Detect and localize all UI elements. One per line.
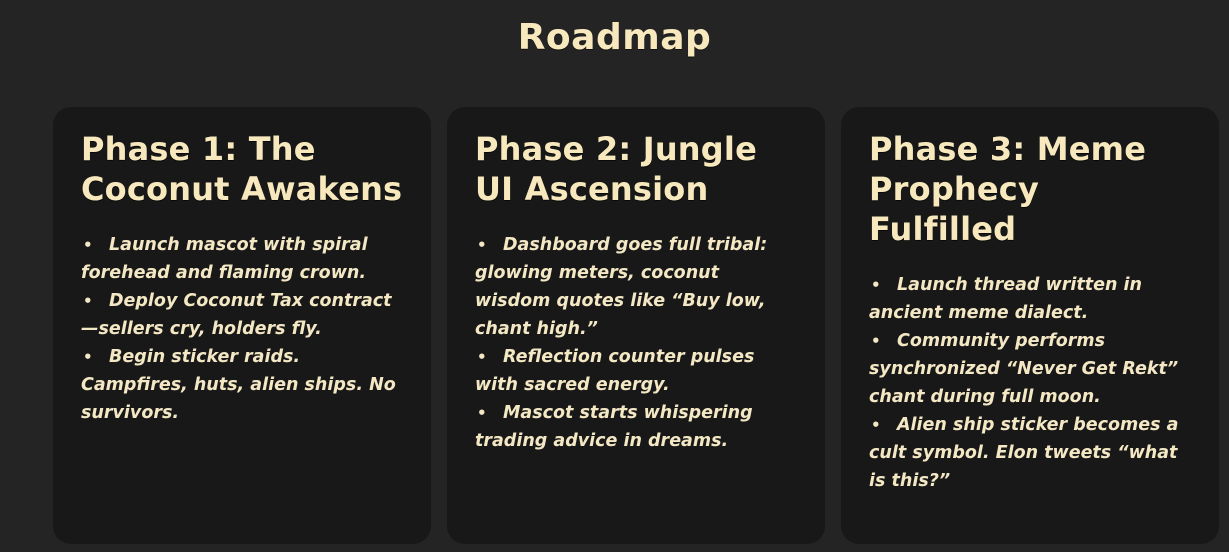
roadmap-cards-row: Phase 1: The Coconut Awakens •Launch mas…	[53, 107, 1219, 544]
list-item: •Begin sticker raids. Campfires, huts, a…	[81, 343, 403, 427]
card-title: Phase 3: Meme Prophecy Fulfilled	[869, 129, 1191, 249]
roadmap-page: Roadmap Phase 1: The Coconut Awakens •La…	[0, 0, 1229, 552]
bullet-dot-icon: •	[475, 399, 503, 427]
list-item: •Deploy Coconut Tax contract—sellers cry…	[81, 287, 403, 343]
list-item-text: Launch thread written in ancient meme di…	[869, 275, 1142, 323]
list-item-text: Mascot starts whispering trading advice …	[475, 403, 753, 451]
card-bullet-list: •Launch mascot with spiral forehead and …	[81, 231, 403, 427]
bullet-dot-icon: •	[475, 343, 503, 371]
bullet-dot-icon: •	[81, 231, 109, 259]
list-item-text: Alien ship sticker becomes a cult symbol…	[869, 415, 1178, 491]
roadmap-card-phase-1: Phase 1: The Coconut Awakens •Launch mas…	[53, 107, 431, 544]
list-item: •Dashboard goes full tribal: glowing met…	[475, 231, 797, 343]
list-item: •Reflection counter pulses with sacred e…	[475, 343, 797, 399]
card-bullet-list: •Dashboard goes full tribal: glowing met…	[475, 231, 797, 455]
bullet-dot-icon: •	[475, 231, 503, 259]
list-item: •Mascot starts whispering trading advice…	[475, 399, 797, 455]
card-title: Phase 2: Jungle UI Ascension	[475, 129, 797, 209]
page-title: Roadmap	[0, 16, 1229, 60]
card-bullet-list: •Launch thread written in ancient meme d…	[869, 271, 1191, 495]
list-item-text: Begin sticker raids. Campfires, huts, al…	[81, 347, 396, 423]
list-item: •Community performs synchronized “Never …	[869, 327, 1191, 411]
bullet-dot-icon: •	[81, 343, 109, 371]
bullet-dot-icon: •	[869, 271, 897, 299]
card-title: Phase 1: The Coconut Awakens	[81, 129, 403, 209]
list-item: •Launch thread written in ancient meme d…	[869, 271, 1191, 327]
list-item: •Alien ship sticker becomes a cult symbo…	[869, 411, 1191, 495]
list-item-text: Dashboard goes full tribal: glowing mete…	[475, 235, 767, 339]
list-item-text: Launch mascot with spiral forehead and f…	[81, 235, 368, 283]
bullet-dot-icon: •	[869, 327, 897, 355]
bullet-dot-icon: •	[81, 287, 109, 315]
list-item-text: Community performs synchronized “Never G…	[869, 331, 1178, 407]
list-item-text: Deploy Coconut Tax contract—sellers cry,…	[81, 291, 392, 339]
list-item: •Launch mascot with spiral forehead and …	[81, 231, 403, 287]
bullet-dot-icon: •	[869, 411, 897, 439]
roadmap-card-phase-2: Phase 2: Jungle UI Ascension •Dashboard …	[447, 107, 825, 544]
list-item-text: Reflection counter pulses with sacred en…	[475, 347, 754, 395]
roadmap-card-phase-3: Phase 3: Meme Prophecy Fulfilled •Launch…	[841, 107, 1219, 544]
